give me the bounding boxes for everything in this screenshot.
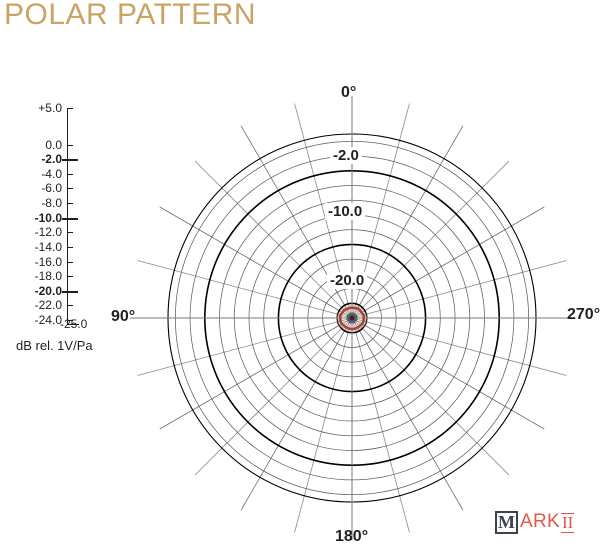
scale-tick--120 <box>67 232 73 233</box>
angle-label-180: 180° <box>335 528 368 546</box>
scale-tick-label--140: -14.0 <box>35 241 62 253</box>
scale-tick--200 <box>62 291 78 293</box>
ring-label-minus-20: -20.0 <box>327 272 367 289</box>
grid-spoke-150 <box>352 318 463 510</box>
scale-tick-label--180: -18.0 <box>35 270 62 282</box>
scale-tick--60 <box>67 188 73 189</box>
grid-spoke-240 <box>160 318 352 429</box>
logo-ark-text: ARK <box>520 511 560 533</box>
scale-tick--180 <box>67 276 73 277</box>
scale-tick-label--60: -6.0 <box>41 182 62 194</box>
scale-tick-50 <box>67 108 73 109</box>
page-title: POLAR PATTERN <box>4 0 256 32</box>
scale-tick-label--120: -12.0 <box>35 226 62 238</box>
scale-tick--140 <box>67 247 73 248</box>
scale-tick--100 <box>62 218 78 220</box>
scale-tick-label--200: -20.0 <box>35 285 62 297</box>
scale-tick-label--220: -22.0 <box>35 299 62 311</box>
grid-spoke-135 <box>352 318 509 475</box>
scale-end-label: -25.0 <box>60 318 87 330</box>
scale-tick-label-50: +5.0 <box>38 102 62 114</box>
scale-tick-label--20: -2.0 <box>41 153 62 165</box>
plot-center-marker <box>347 313 358 324</box>
axis-unit-label: dB rel. 1V/Pa <box>16 338 93 353</box>
grid-spoke-45 <box>352 161 509 318</box>
grid-spoke-30 <box>352 126 463 318</box>
scale-tick--160 <box>67 262 73 263</box>
logo-m-box: M <box>495 511 518 534</box>
scale-tick-label--80: -8.0 <box>41 197 62 209</box>
scale-tick--40 <box>67 174 73 175</box>
ring-label-minus-10: -10.0 <box>325 203 365 220</box>
scale-tick--20 <box>62 159 78 161</box>
grid-spoke-300 <box>160 207 352 318</box>
scale-tick--80 <box>67 203 73 204</box>
logo-mark-two: II <box>561 513 574 533</box>
grid-spoke-225 <box>195 318 352 475</box>
scale-tick-label--100: -10.0 <box>35 212 62 224</box>
scale-tick-00 <box>67 145 73 146</box>
angle-label-90: 90° <box>111 308 135 326</box>
scale-tick-label-00: 0.0 <box>45 139 62 151</box>
grid-spoke-120 <box>352 318 544 429</box>
scale-tick--220 <box>67 305 73 306</box>
db-scale-axis: -25.0 +5.00.0-2.0-4.0-6.0-8.0-10.0-12.0-… <box>0 98 150 338</box>
scale-tick-label--40: -4.0 <box>41 168 62 180</box>
grid-spoke-60 <box>352 207 544 318</box>
brand-logo: M ARK II <box>495 508 574 536</box>
grid-spoke-315 <box>195 161 352 318</box>
scale-tick--240 <box>67 320 73 321</box>
angle-label-270: 270° <box>567 306 600 324</box>
angle-label-0: 0° <box>341 84 356 102</box>
ring-label-minus-2: -2.0 <box>330 147 362 164</box>
grid-spoke-210 <box>241 318 352 510</box>
scale-tick-label--240: -24.0 <box>35 314 62 326</box>
scale-tick-label--160: -16.0 <box>35 256 62 268</box>
center-dot-inner <box>350 316 355 321</box>
